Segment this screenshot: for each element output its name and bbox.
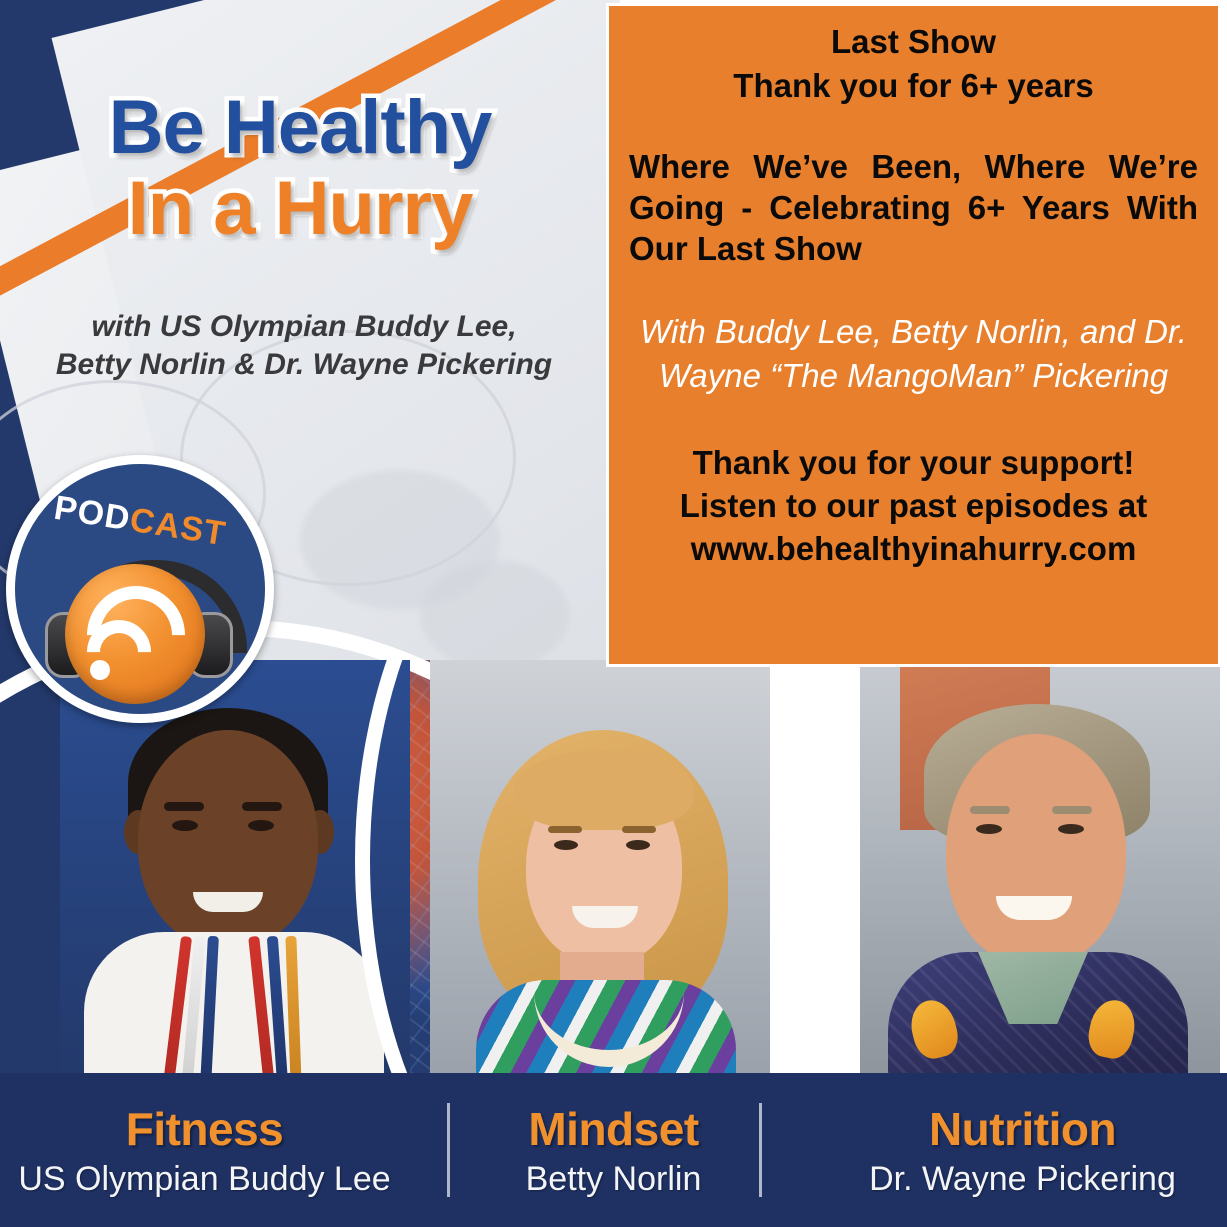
cover-title: Be Healthy In a Hurry — [0, 92, 600, 246]
portrait-betty-norlin — [430, 660, 770, 1080]
promo-episode-title: Where We’ve Been, Where We’re Going - Ce… — [623, 147, 1204, 270]
promo-hosts: With Buddy Lee, Betty Norlin, and Dr. Wa… — [623, 310, 1204, 398]
cover-subtitle-line1: with US Olympian Buddy Lee, — [0, 308, 608, 346]
face — [946, 734, 1126, 966]
podcast-badge: PODCAST — [6, 455, 274, 723]
promo-website[interactable]: www.behealthyinahurry.com — [623, 528, 1204, 571]
banner-divider — [447, 1103, 450, 1197]
banner-column-fitness: Fitness US Olympian Buddy Lee — [0, 1102, 409, 1199]
podcast-promo-graphic: Be Healthy In a Hurry with US Olympian B… — [0, 0, 1227, 1227]
banner-subtitle-mindset: Betty Norlin — [409, 1160, 818, 1199]
promo-headline: Last Show Thank you for 6+ years — [623, 20, 1204, 107]
face — [138, 730, 318, 948]
promo-headline-line2: Thank you for 6+ years — [623, 64, 1204, 108]
cover-subtitle: with US Olympian Buddy Lee, Betty Norlin… — [0, 308, 608, 385]
promo-thanks-line2: Listen to our past episodes at — [623, 485, 1204, 528]
banner-column-nutrition: Nutrition Dr. Wayne Pickering — [818, 1102, 1227, 1199]
promo-thanks: Thank you for your support! Listen to ou… — [623, 442, 1204, 571]
promo-thanks-line1: Thank you for your support! — [623, 442, 1204, 485]
cover-title-line2: In a Hurry — [0, 173, 600, 246]
cover-subtitle-line2: Betty Norlin & Dr. Wayne Pickering — [0, 346, 608, 384]
cover-title-line1: Be Healthy — [0, 92, 600, 165]
podcast-badge-label-pod: POD — [52, 489, 134, 539]
banner-subtitle-nutrition: Dr. Wayne Pickering — [818, 1160, 1227, 1199]
bottom-banner: Fitness US Olympian Buddy Lee Mindset Be… — [0, 1073, 1227, 1227]
banner-title-mindset: Mindset — [409, 1102, 818, 1156]
portrait-buddy-lee — [60, 660, 410, 1080]
podcast-badge-label-cast: CAST — [127, 501, 228, 554]
portrait-wayne-pickering — [860, 660, 1220, 1080]
promo-text-panel: Last Show Thank you for 6+ years Where W… — [606, 3, 1221, 667]
decorative-blob — [420, 560, 570, 670]
host-photo-strip — [0, 660, 1227, 1080]
promo-headline-line1: Last Show — [623, 20, 1204, 64]
banner-divider — [759, 1103, 762, 1197]
banner-title-nutrition: Nutrition — [818, 1102, 1227, 1156]
banner-column-mindset: Mindset Betty Norlin — [409, 1102, 818, 1199]
shirt — [84, 932, 384, 1080]
rss-icon — [65, 564, 205, 704]
banner-title-fitness: Fitness — [0, 1102, 409, 1156]
podcast-badge-label: PODCAST — [13, 483, 266, 561]
banner-subtitle-fitness: US Olympian Buddy Lee — [0, 1160, 409, 1199]
